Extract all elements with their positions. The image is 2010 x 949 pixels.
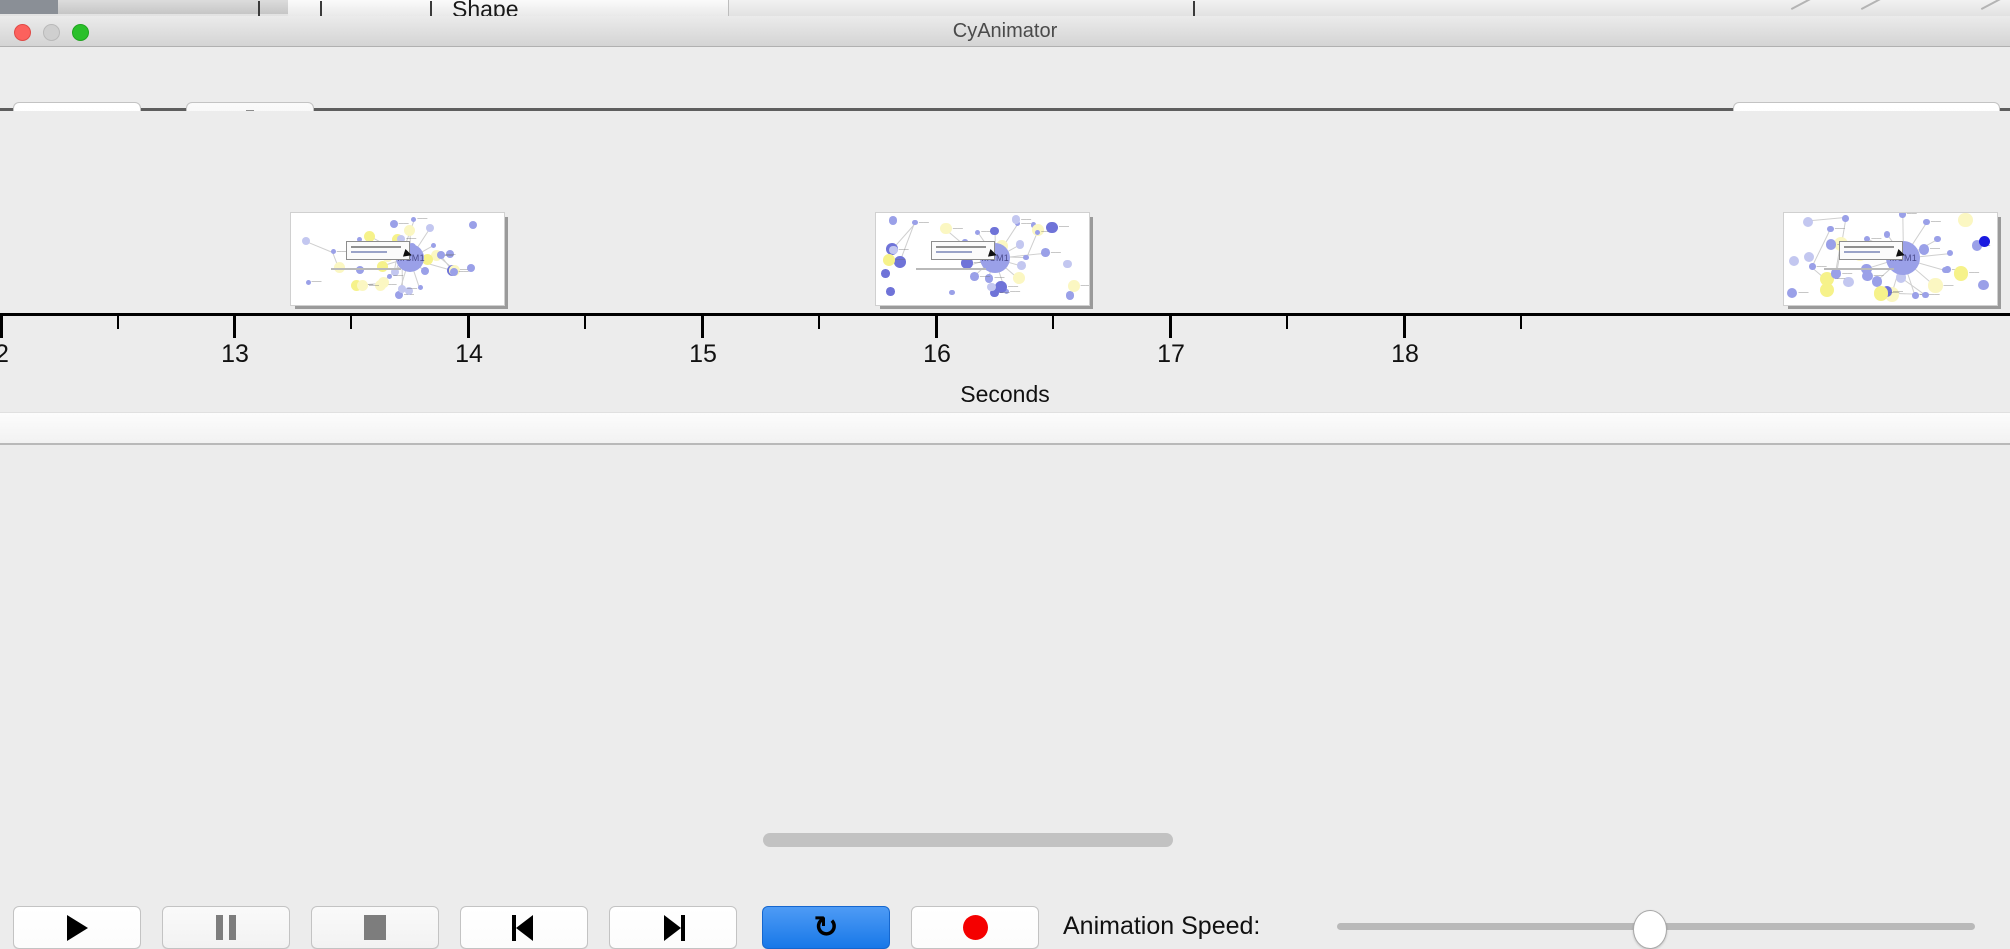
network-node-label: —— — [994, 275, 1004, 281]
network-node — [1928, 278, 1942, 292]
network-node — [1066, 291, 1075, 300]
axis-minor-tick — [1520, 316, 1522, 329]
network-node-label: —— — [1907, 212, 1917, 217]
network-node-label: —— — [1051, 250, 1061, 256]
network-node — [949, 290, 954, 295]
background-cell — [618, 0, 729, 16]
play-icon — [67, 915, 88, 941]
network-node — [387, 274, 392, 279]
network-node-label: —— — [446, 252, 456, 258]
network-node — [426, 224, 434, 232]
network-node — [357, 280, 368, 291]
network-node — [1789, 256, 1799, 266]
title-bar[interactable]: CyAnimator — [0, 16, 2010, 47]
record-icon — [963, 915, 988, 940]
network-node — [1063, 260, 1072, 269]
network-node-label: —— — [459, 269, 469, 275]
background-cell — [508, 0, 619, 16]
animation-speed-slider-thumb[interactable] — [1633, 910, 1667, 949]
network-node — [1958, 213, 1972, 227]
network-node — [889, 216, 898, 225]
axis-major-tick — [233, 316, 236, 338]
network-node-label: —— — [1021, 217, 1031, 223]
loop-icon: ↻ — [813, 913, 838, 943]
axis-tick-label: 17 — [1157, 340, 1185, 369]
skip-to-start-button[interactable] — [460, 906, 588, 949]
network-caption — [1824, 268, 1894, 270]
network-node — [418, 285, 423, 290]
network-node — [437, 251, 445, 259]
network-caption — [916, 268, 986, 270]
network-thumbnail: ————————————————————————————————————————… — [1783, 212, 1998, 306]
background-diagonal — [1861, 0, 1881, 10]
horizontal-scrollbar-track[interactable] — [0, 412, 2010, 445]
network-node — [306, 280, 311, 285]
background-diagonal — [1791, 0, 1811, 10]
background-tick — [1193, 1, 1195, 16]
network-thumbnail: ————————————————————————————————————MCM1 — [875, 212, 1090, 306]
network-node-label: —— — [393, 273, 403, 279]
background-shape-label: Shape — [452, 0, 519, 16]
network-node — [1013, 272, 1025, 284]
network-node — [1923, 219, 1930, 226]
network-node — [1023, 255, 1028, 260]
network-node-label: —— — [1798, 290, 1808, 296]
animation-speed-label: Animation Speed: — [1063, 906, 1260, 947]
network-node — [1919, 244, 1929, 254]
network-tooltip-callout — [346, 241, 410, 260]
network-node — [1874, 286, 1888, 300]
stop-button[interactable] — [311, 906, 439, 949]
network-node — [1820, 283, 1834, 297]
network-node-label: —— — [1059, 224, 1069, 230]
network-node — [1978, 280, 1988, 290]
network-node-label: —— — [1930, 292, 1940, 298]
record-button[interactable] — [911, 906, 1039, 949]
network-node — [431, 243, 436, 248]
axis-minor-tick — [584, 316, 586, 329]
network-node — [886, 287, 895, 296]
window-title: CyAnimator — [0, 16, 2010, 46]
network-node — [1068, 280, 1080, 292]
pause-button[interactable] — [162, 906, 290, 949]
network-node — [1912, 292, 1919, 299]
network-node — [390, 220, 398, 228]
axis-tick-label: 15 — [689, 340, 717, 369]
axis-minor-tick — [1286, 316, 1288, 329]
network-tooltip-callout — [1839, 241, 1903, 260]
network-tooltip-callout — [931, 241, 995, 260]
axis-tick-label: 16 — [923, 340, 951, 369]
network-node — [1944, 266, 1951, 273]
network-node — [1012, 215, 1021, 224]
pause-icon — [216, 915, 236, 940]
network-node — [1827, 226, 1834, 233]
network-node-label: —— — [1930, 246, 1940, 252]
axis-tick-label: 13 — [221, 340, 249, 369]
skip-to-end-icon — [661, 915, 685, 941]
network-node-label: —— — [407, 286, 417, 292]
network-node-label: —— — [899, 247, 909, 253]
axis-major-tick — [467, 316, 470, 338]
network-node-label: —— — [1081, 283, 1090, 289]
axis-tick-label: 18 — [1391, 340, 1419, 369]
axis-major-tick — [1403, 316, 1406, 338]
axis-major-tick — [0, 316, 3, 338]
network-node — [378, 277, 389, 288]
axis-major-tick — [1169, 316, 1172, 338]
network-node-label: —— — [1842, 271, 1852, 277]
network-node-label: —— — [1931, 219, 1941, 225]
axis-tick-label: 2 — [0, 340, 9, 369]
network-node — [990, 227, 999, 236]
network-node — [1804, 252, 1814, 262]
network-node — [1954, 266, 1968, 280]
network-node-label: —— — [1969, 270, 1979, 276]
network-node-label: —— — [399, 221, 409, 227]
network-node-label: —— — [896, 257, 906, 263]
network-node — [377, 261, 388, 272]
network-node — [1934, 236, 1941, 243]
play-button[interactable] — [13, 906, 141, 949]
network-node — [883, 254, 895, 266]
cyanimator-window: Shape CyAnimator Clear All Frames — [0, 0, 2010, 510]
network-node — [1809, 263, 1816, 270]
axis-major-tick — [935, 316, 938, 338]
network-node-label: —— — [417, 216, 427, 222]
network-node — [1803, 217, 1813, 227]
network-node — [1842, 215, 1849, 222]
timeline-frame-thumbnail[interactable]: ————————————————————————————————————MCM1 — [875, 212, 1088, 304]
skip-to-end-button[interactable] — [609, 906, 737, 949]
network-node — [1899, 212, 1906, 218]
background-tick — [320, 1, 322, 16]
network-node — [1016, 240, 1025, 249]
background-tick — [258, 1, 260, 16]
axis-minor-tick — [350, 316, 352, 329]
timeline-axis — [0, 313, 2010, 316]
background-diagonal — [1981, 0, 2001, 10]
network-thumbnail: ————————————————————————————————MCM1 — [290, 212, 505, 306]
network-node-label: —— — [1874, 273, 1884, 279]
network-node-label: —— — [1000, 290, 1010, 296]
network-node-label: —— — [980, 274, 990, 280]
axis-major-tick — [701, 316, 704, 338]
network-node-label: —— — [312, 279, 322, 285]
network-node — [1017, 261, 1026, 270]
network-node — [1046, 222, 1058, 234]
network-node — [1826, 239, 1836, 249]
network-node-label: —— — [1944, 283, 1954, 289]
network-node — [912, 220, 917, 225]
network-node — [411, 217, 416, 222]
network-edge — [306, 241, 333, 253]
background-dark-block — [0, 0, 58, 14]
network-node — [1862, 271, 1872, 281]
network-node-label: —— — [1835, 226, 1845, 232]
toolbar: Clear All Frames — [0, 47, 2010, 111]
network-node — [1787, 288, 1797, 298]
stop-icon — [364, 915, 386, 940]
network-node — [889, 246, 898, 255]
axis-minor-tick — [117, 316, 119, 329]
timeline-frame-thumbnail[interactable]: ————————————————————————————————MCM1 — [290, 212, 503, 304]
network-node-highlight — [1979, 236, 1990, 247]
horizontal-scrollbar-thumb[interactable] — [763, 833, 1173, 847]
network-node — [469, 221, 477, 229]
background-cell — [288, 0, 399, 16]
network-node — [421, 267, 429, 275]
skip-to-start-icon — [512, 915, 536, 941]
axis-minor-tick — [818, 316, 820, 329]
background-window-strip: Shape — [0, 0, 2010, 16]
playback-controls: ↻ Animation Speed: — [0, 445, 2010, 510]
network-node-label: —— — [953, 226, 963, 232]
network-node — [1041, 248, 1050, 257]
network-node — [881, 269, 890, 278]
axis-minor-tick — [1052, 316, 1054, 329]
network-edge — [1808, 217, 1846, 221]
network-node-label: —— — [1889, 290, 1899, 296]
network-node — [302, 237, 310, 245]
network-node — [987, 283, 996, 292]
background-tick — [430, 1, 432, 16]
timeline-frame-thumbnail[interactable]: ————————————————————————————————————————… — [1783, 212, 1996, 304]
network-node-label: —— — [919, 220, 929, 226]
background-gray-block — [58, 0, 288, 14]
axis-title: Seconds — [0, 381, 2010, 408]
network-node — [1884, 231, 1891, 238]
loop-button[interactable]: ↻ — [762, 906, 890, 949]
network-node-label: —— — [369, 283, 379, 289]
network-node — [331, 249, 336, 254]
axis-tick-label: 14 — [455, 340, 483, 369]
network-node — [1947, 250, 1954, 257]
network-node — [1922, 292, 1929, 299]
network-node — [450, 268, 458, 276]
network-caption — [331, 268, 401, 270]
network-node — [970, 272, 979, 281]
